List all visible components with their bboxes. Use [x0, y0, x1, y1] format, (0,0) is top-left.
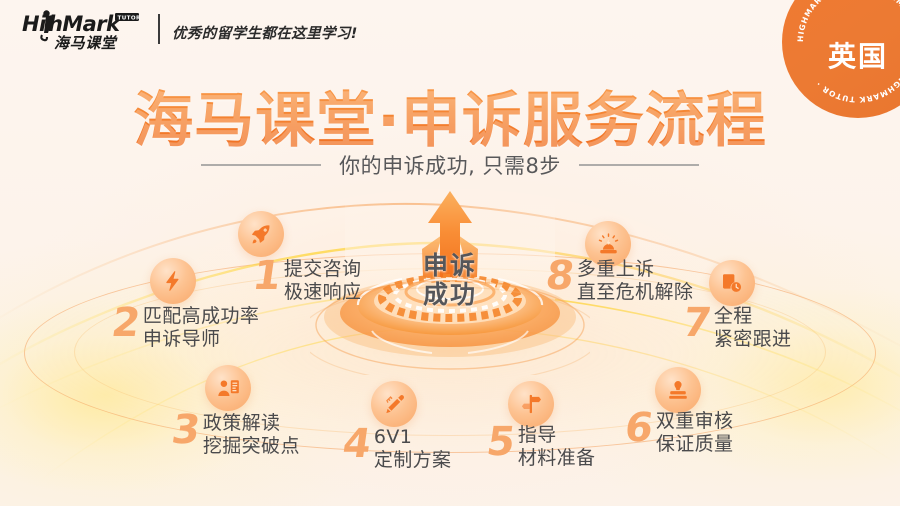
step-5-number: 5	[484, 424, 517, 461]
subtitle-row: 你的申诉成功, 只需8步	[0, 150, 900, 180]
svg-text:hMark: hMark	[48, 12, 122, 36]
step-1-number: 1	[250, 258, 283, 295]
step-3-lines: 政策解读 挖掘突破点	[203, 412, 300, 458]
step-8-number: 8	[543, 258, 576, 295]
step-3-number: 3	[169, 412, 202, 449]
step-2-text: 2 匹配高成功率 申诉导师	[112, 305, 259, 351]
step-6-number: 6	[622, 410, 655, 447]
step-6-lines: 双重审核 保证质量	[656, 410, 734, 456]
logo-divider	[158, 14, 160, 44]
svg-text:Hi: Hi	[22, 12, 47, 36]
step-4-lines: 6V1 定制方案	[374, 426, 452, 472]
step-7-line-2: 紧密跟进	[714, 328, 792, 351]
step-6-line-1: 双重审核	[656, 410, 734, 433]
step-8-line-2: 直至危机解除	[577, 281, 693, 304]
step-7-line-1: 全程	[714, 305, 792, 328]
rocket-icon	[238, 211, 284, 257]
step-3-text: 3 政策解读 挖掘突破点	[172, 412, 300, 458]
step-3-line-2: 挖掘突破点	[203, 435, 300, 458]
step-4-text: 4 6V1 定制方案	[343, 426, 451, 472]
page-subtitle: 你的申诉成功, 只需8步	[339, 150, 561, 180]
svg-text:TUTOR: TUTOR	[118, 16, 142, 22]
step-5-line-2: 材料准备	[518, 447, 596, 470]
subtitle-rule-left	[201, 164, 321, 166]
step-2-lines: 匹配高成功率 申诉导师	[143, 305, 259, 351]
step-5-lines: 指导 材料准备	[518, 424, 596, 470]
step-7-number: 7	[680, 305, 713, 342]
step-3-line-1: 政策解读	[203, 412, 300, 435]
pencil-ruler-icon	[371, 381, 417, 427]
step-4-number: 4	[340, 426, 373, 463]
step-2-number: 2	[109, 305, 142, 342]
step-2-line-2: 申诉导师	[143, 328, 259, 351]
step-1-line-1: 提交咨询	[284, 258, 362, 281]
svg-text:海马课堂: 海马课堂	[54, 34, 118, 52]
step-6-text: 6 双重审核 保证质量	[625, 410, 733, 456]
step-2-line-1: 匹配高成功率	[143, 305, 259, 328]
header-slogan: 优秀的留学生都在这里学习!	[172, 22, 358, 43]
step-8-line-1: 多重上诉	[577, 258, 693, 281]
step-6-line-2: 保证质量	[656, 433, 734, 456]
step-7-lines: 全程 紧密跟进	[714, 305, 792, 351]
step-1-lines: 提交咨询 极速响应	[284, 258, 362, 304]
step-5-text: 5 指导 材料准备	[487, 424, 595, 470]
infographic-poster: Hi hMark TUTOR 海马课堂 优秀的留学生都在这里学习!	[0, 0, 900, 506]
step-4-line-2: 定制方案	[374, 449, 452, 472]
stamp-icon	[655, 367, 701, 413]
step-4-line-1: 6V1	[374, 426, 452, 449]
step-5-line-1: 指导	[518, 424, 596, 447]
step-1-text: 1 提交咨询 极速响应	[253, 258, 361, 304]
clock-document-icon	[709, 260, 755, 306]
step-8-text: 8 多重上诉 直至危机解除	[546, 258, 693, 304]
step-1-line-2: 极速响应	[284, 281, 362, 304]
step-8-lines: 多重上诉 直至危机解除	[577, 258, 693, 304]
lightning-icon	[150, 258, 196, 304]
top-bar: Hi hMark TUTOR 海马课堂 优秀的留学生都在这里学习!	[0, 0, 900, 62]
highmark-logo[interactable]: Hi hMark TUTOR 海马课堂	[22, 9, 150, 53]
subtitle-rule-right	[579, 164, 699, 166]
step-7-text: 7 全程 紧密跟进	[683, 305, 791, 351]
person-document-icon	[205, 365, 251, 411]
